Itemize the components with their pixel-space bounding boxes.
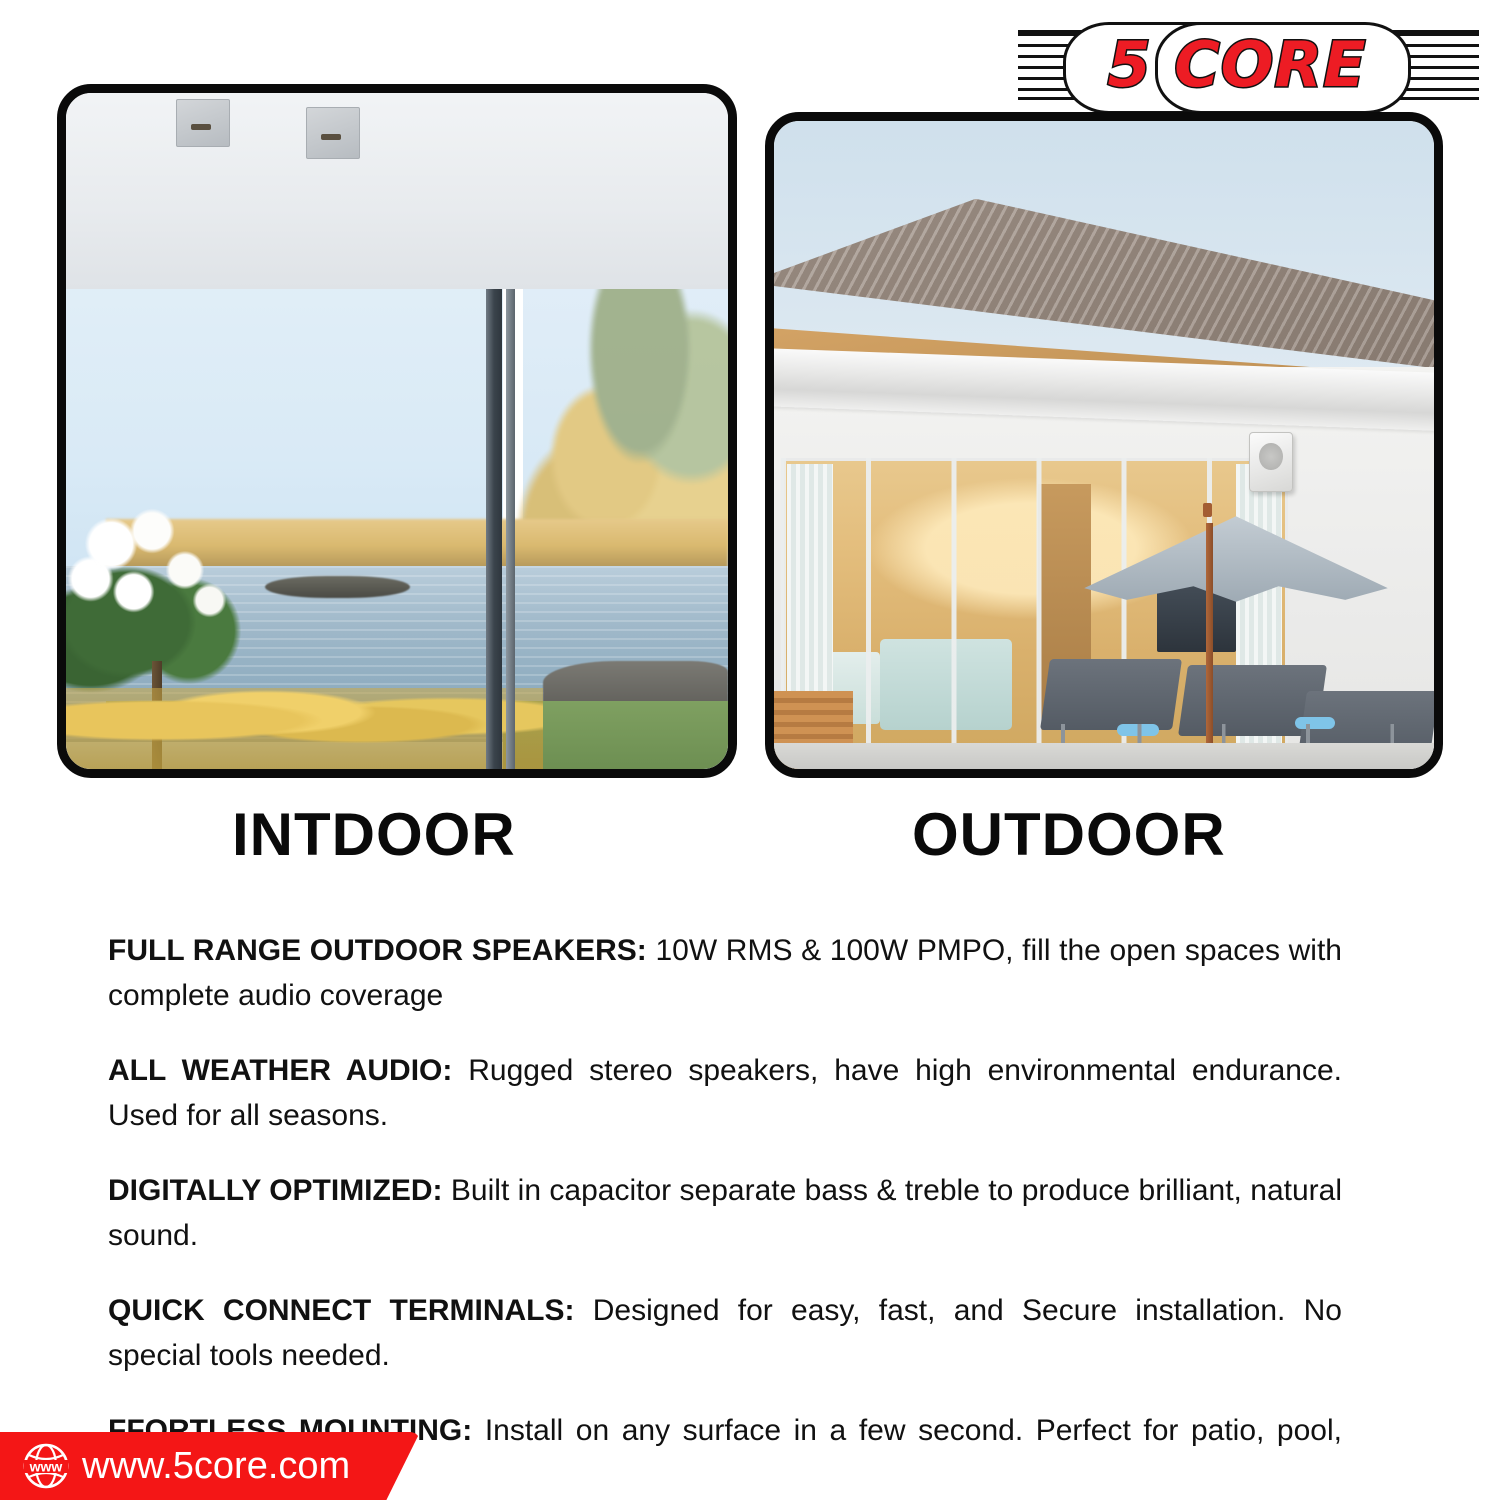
indoor-lake-island <box>265 576 411 598</box>
outdoor-photo-scene <box>774 121 1434 769</box>
indoor-window-mullion-secondary <box>506 235 515 769</box>
feature-list: FULL RANGE OUTDOOR SPEAKERS: 10W RMS & 1… <box>108 898 1342 1498</box>
feature-title: DIGITALLY OPTIMIZED: <box>108 1174 443 1207</box>
caption-indoor: INTDOOR <box>232 800 516 870</box>
website-url[interactable]: www.5core.com <box>82 1432 350 1500</box>
indoor-window-mullion <box>486 228 502 769</box>
feature-item: FULL RANGE OUTDOOR SPEAKERS: 10W RMS & 1… <box>108 928 1342 1018</box>
outdoor-photo <box>765 112 1443 778</box>
caption-outdoor: OUTDOOR <box>912 800 1226 870</box>
photo-captions: INTDOOR OUTDOOR <box>57 800 1443 870</box>
outdoor-umbrella-finial <box>1203 503 1212 517</box>
globe-www-icon: www <box>22 1442 70 1490</box>
outdoor-umbrella-pole <box>1206 523 1213 769</box>
indoor-photo <box>57 84 737 778</box>
svg-text:www: www <box>29 1459 63 1475</box>
feature-item: QUICK CONNECT TERMINALS: Designed for ea… <box>108 1288 1342 1378</box>
feature-item: ALL WEATHER AUDIO: Rugged stereo speaker… <box>108 1048 1342 1138</box>
outdoor-patio-ground <box>774 743 1434 769</box>
indoor-photo-scene <box>66 93 728 769</box>
feature-title: QUICK CONNECT TERMINALS: <box>108 1294 574 1327</box>
outdoor-lounge-chair-1 <box>1040 659 1182 730</box>
feature-title: FULL RANGE OUTDOOR SPEAKERS: <box>108 934 647 967</box>
indoor-ceiling-speaker-left <box>176 99 230 147</box>
feature-title: ALL WEATHER AUDIO: <box>108 1054 452 1087</box>
logo-text: 5 CORE <box>1067 24 1407 106</box>
indoor-ceiling <box>66 93 728 289</box>
outdoor-wall-mounted-speaker <box>1249 432 1293 492</box>
indoor-ceiling-speaker-right <box>306 107 360 159</box>
website-footer-banner[interactable]: www www.5core.com <box>0 1432 420 1500</box>
indoor-foreground-foliage <box>66 688 543 769</box>
brand-logo: 5 CORE <box>1005 8 1492 120</box>
feature-item: DIGITALLY OPTIMIZED: Built in capacitor … <box>108 1168 1342 1258</box>
